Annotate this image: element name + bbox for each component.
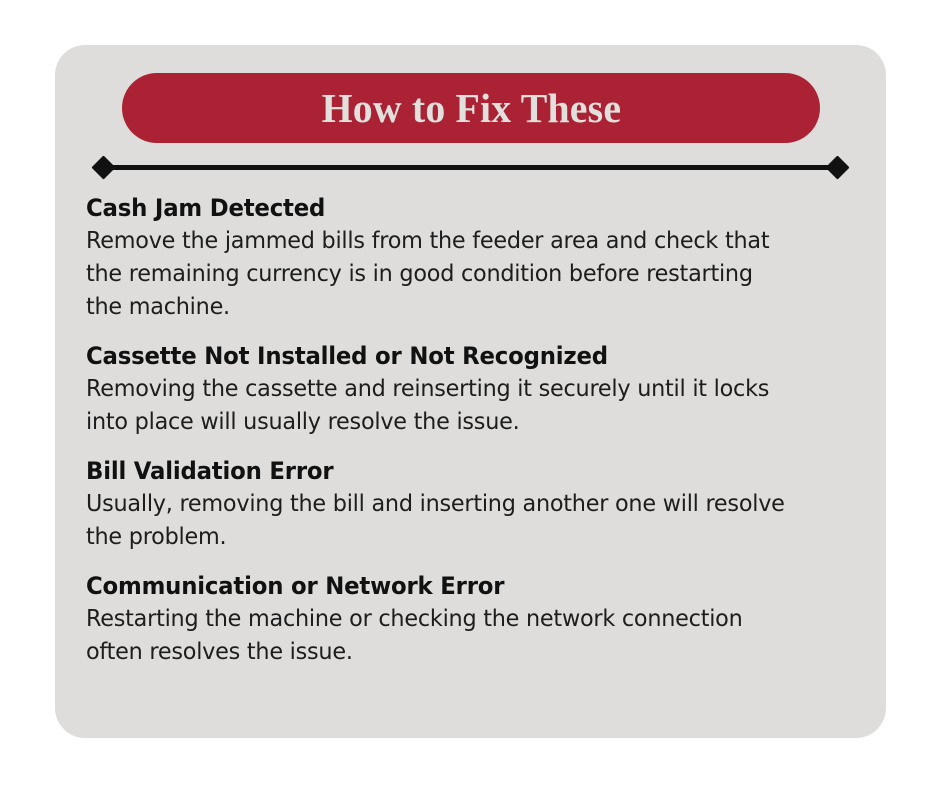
section-item: Cash Jam Detected Remove the jammed bill… (86, 193, 846, 323)
infographic-canvas: How to Fix These Cash Jam Detected Remov… (0, 0, 940, 788)
section-heading: Cash Jam Detected (86, 193, 808, 223)
section-item: Communication or Network Error Restartin… (86, 571, 846, 668)
section-item: Cassette Not Installed or Not Recognized… (86, 341, 846, 438)
diamond-right-icon (825, 155, 849, 179)
section-body: Usually, removing the bill and inserting… (86, 487, 794, 553)
section-body: Restarting the machine or checking the n… (86, 602, 794, 668)
info-card: How to Fix These Cash Jam Detected Remov… (55, 45, 886, 738)
section-list: Cash Jam Detected Remove the jammed bill… (86, 193, 846, 668)
section-heading: Bill Validation Error (86, 456, 808, 486)
section-heading: Communication or Network Error (86, 571, 808, 601)
decorative-divider (95, 158, 846, 178)
section-body: Removing the cassette and reinserting it… (86, 372, 794, 438)
section-body: Remove the jammed bills from the feeder … (86, 224, 794, 323)
section-item: Bill Validation Error Usually, removing … (86, 456, 846, 553)
page-title: How to Fix These (321, 88, 621, 129)
section-heading: Cassette Not Installed or Not Recognized (86, 341, 808, 371)
divider-line (101, 165, 840, 170)
title-banner: How to Fix These (122, 73, 820, 143)
